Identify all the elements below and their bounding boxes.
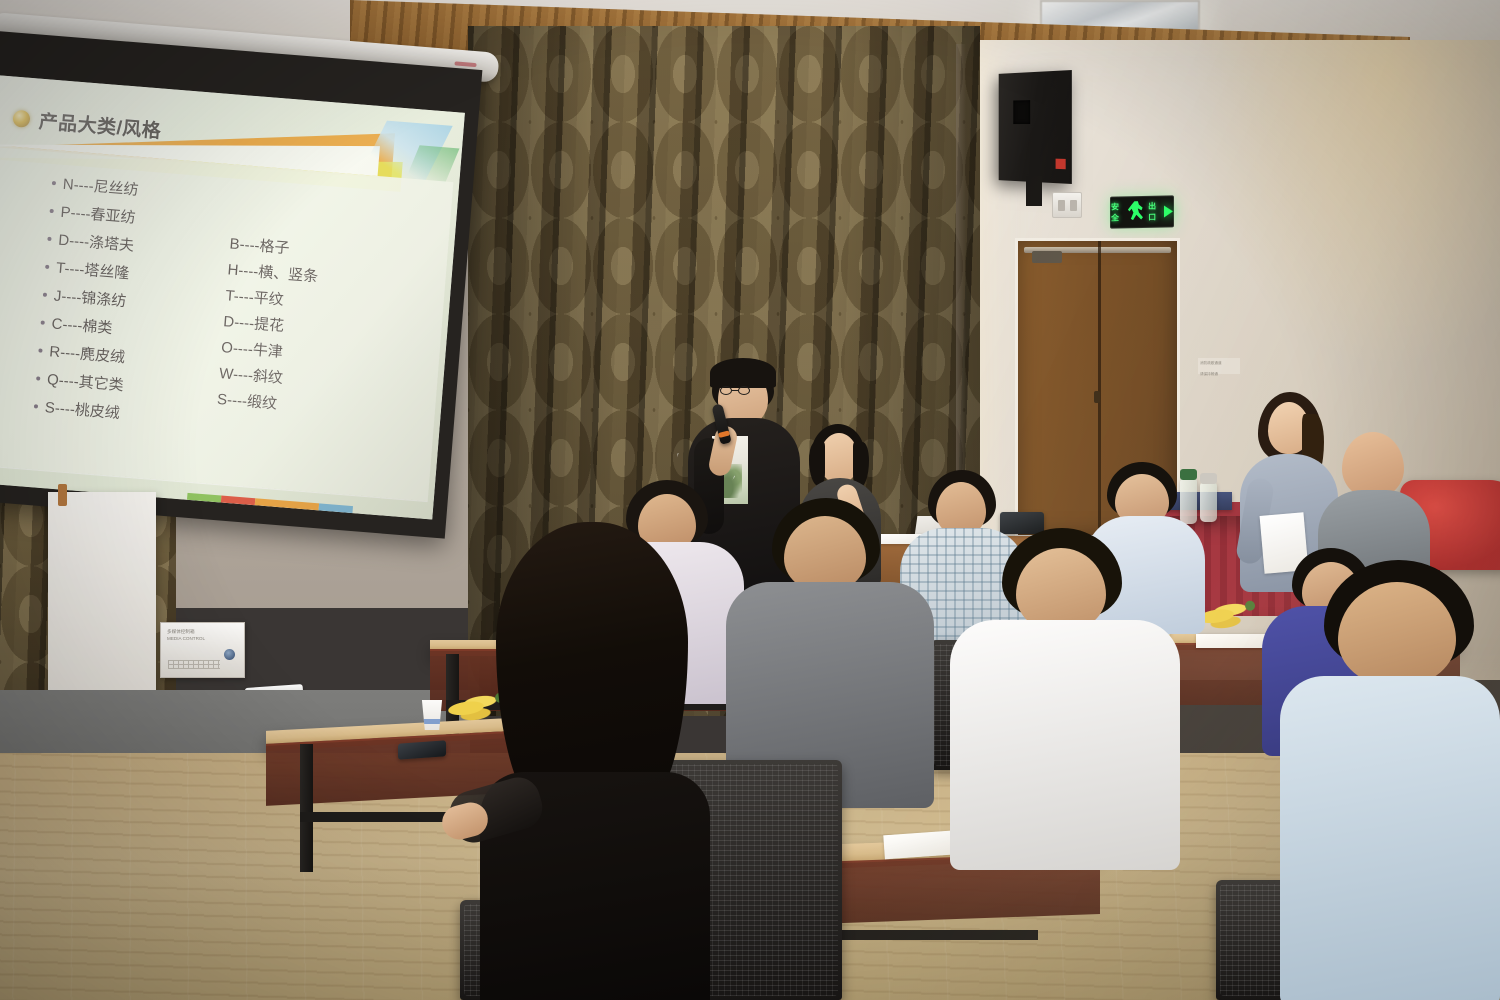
slide-left-column: N----尼丝纺P----春亚纺D----涤塔夫T----塔丝隆J----锦涤纺… (0, 170, 230, 441)
slide-bullet-left-6: R----麂皮绒 (38, 343, 217, 372)
av-control-box: 多媒体控制箱 MEDIA CONTROL (160, 622, 245, 678)
slide-bullet-left-1: P----春亚纺 (49, 204, 228, 233)
slide-bullet-text: C----棉类 (51, 316, 113, 336)
running-figure-icon (1127, 201, 1145, 223)
speaker-badge (1056, 159, 1066, 170)
slide-columns: N----尼丝纺P----春亚纺D----涤塔夫T----塔丝隆J----锦涤纺… (0, 170, 457, 460)
slide-bullet-text: J----锦涤纺 (53, 288, 126, 309)
banana-stem (1244, 600, 1255, 611)
attendee-foreground-torso (1280, 676, 1500, 1000)
exit-sign-text-right: 出口 (1148, 201, 1161, 223)
av-box-subtitle: MEDIA CONTROL (167, 636, 205, 643)
slide-bullet-text: S----桃皮绒 (44, 400, 120, 421)
slide-bullet-right-1: H----横、竖条 (227, 262, 424, 293)
attendee-white-torso (950, 620, 1180, 870)
glasses-icon (720, 386, 750, 395)
slide-bullet-left-5: C----棉类 (40, 316, 219, 345)
slide-bullet-right-0: B----格子 (229, 236, 426, 267)
slide-surface: 产品大类/风格 N----尼丝纺P----春亚纺D----涤塔夫T----塔丝隆… (0, 74, 465, 519)
wall-light-glow (1190, 40, 1500, 370)
slide-bullet-text: Q----其它类 (47, 372, 125, 393)
slide-bullet-text: T----塔丝隆 (56, 261, 130, 282)
bullet-dot-icon (47, 237, 51, 241)
footer-bar-segment-3 (319, 503, 353, 513)
gold-orb-icon (12, 110, 30, 128)
bullet-dot-icon (36, 376, 40, 380)
door-closer (1032, 251, 1062, 263)
footer-bar-segment-1 (221, 496, 255, 506)
av-box-logo (224, 649, 235, 660)
slide-bullet-right-5: W----斜纹 (219, 366, 416, 397)
slide-footer-color-bar (187, 493, 357, 514)
av-box-vent (168, 660, 220, 669)
slide-bullet-left-8: S----桃皮绒 (33, 399, 212, 428)
desk-leg (300, 744, 313, 872)
attendee-grey-tee (726, 498, 934, 798)
wall-notice-sign: 消防疏散通道 请保持畅通 (1198, 358, 1240, 374)
slide-bullet-right-6: S----缎纹 (217, 392, 414, 423)
slide-bullet-text: P----春亚纺 (60, 205, 136, 226)
slide-bullet-right-2: T----平纹 (225, 288, 422, 319)
wall-outlet (1052, 192, 1082, 218)
bullet-dot-icon (34, 404, 38, 408)
slide-right-column: B----格子H----横、竖条T----平纹D----提花O----牛津W--… (210, 190, 430, 457)
attendee-longhair-foreground (480, 522, 710, 1000)
attendee-foreground-right (1280, 560, 1500, 1000)
attendee-white-shirt-right (950, 528, 1180, 858)
bullet-dot-icon (38, 348, 42, 352)
flipchart-clip (58, 484, 67, 506)
slide-bullet-left-3: T----塔丝隆 (45, 260, 224, 289)
bullet-dot-icon (45, 265, 49, 269)
footer-bar-segment-2 (255, 498, 319, 510)
flipchart-whiteboard (48, 492, 156, 697)
bullet-dot-icon (43, 293, 47, 297)
exit-sign-text-left: 安全 (1111, 201, 1124, 223)
slide-bullet-text: D----涤塔夫 (58, 233, 135, 254)
door-handle[interactable] (1094, 391, 1100, 403)
housing-brand-mark (454, 61, 476, 67)
slide-bullet-left-4: J----锦涤纺 (42, 288, 221, 317)
slide-bullet-left-7: Q----其它类 (36, 371, 215, 400)
cup-band (423, 719, 441, 724)
emergency-exit-sign: 安全 出口 (1110, 195, 1174, 228)
wall-notice-line-2: 请保持畅通 (1198, 369, 1240, 380)
slide-bullet-right-4: O----牛津 (221, 340, 418, 371)
bald-head (1342, 432, 1404, 498)
attendee-head (784, 516, 866, 592)
wall-notice-line-1: 消防疏散通道 (1198, 358, 1240, 369)
wall-speaker (999, 70, 1072, 184)
slide-bullet-text: R----麂皮绒 (49, 344, 126, 365)
bullet-dot-icon (52, 181, 56, 185)
av-box-title: 多媒体控制箱 (167, 629, 205, 636)
training-room-photo: 产品大类/风格 N----尼丝纺P----春亚纺D----涤塔夫T----塔丝隆… (0, 0, 1500, 1000)
speaker-bracket (1026, 176, 1042, 206)
slide-bullet-right-3: D----提花 (223, 314, 420, 345)
bullet-dot-icon (50, 209, 54, 213)
av-box-label: 多媒体控制箱 MEDIA CONTROL (167, 629, 205, 643)
slide-bullet-left-2: D----涤塔夫 (47, 232, 226, 261)
bullet-dot-icon (41, 320, 45, 324)
tablet-device[interactable] (398, 740, 446, 759)
footer-bar-segment-0 (187, 493, 221, 503)
slide-bullet-text: N----尼丝纺 (62, 177, 139, 198)
speaker-port (1013, 100, 1030, 124)
arrow-right-icon (1164, 205, 1173, 217)
presenter-hair-top (710, 358, 776, 388)
presentation-slide: 产品大类/风格 N----尼丝纺P----春亚纺D----涤塔夫T----塔丝隆… (0, 74, 465, 519)
assistant-hair-side (809, 442, 825, 486)
microphone-band (718, 430, 730, 438)
projection-screen: 产品大类/风格 N----尼丝纺P----春亚纺D----涤塔夫T----塔丝隆… (0, 30, 482, 539)
